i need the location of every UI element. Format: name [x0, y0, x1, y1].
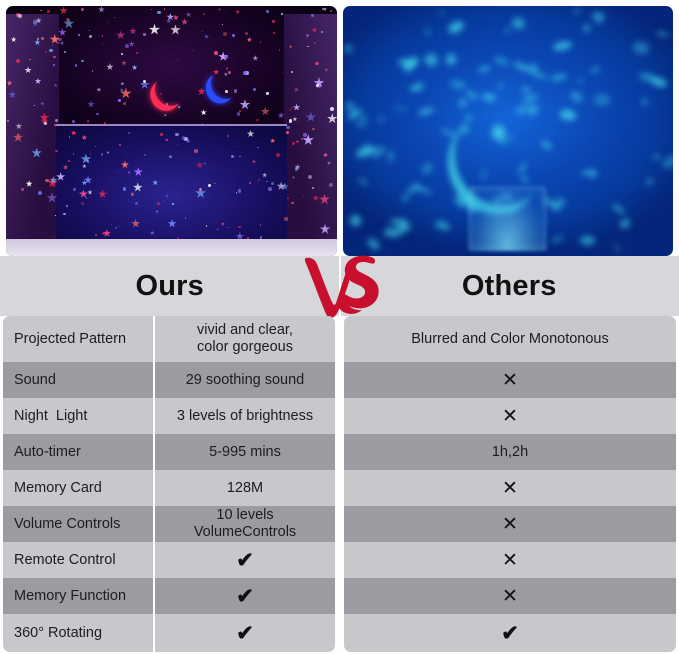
star-glyph — [121, 161, 129, 169]
star-glyph — [165, 138, 169, 142]
star-glyph — [133, 182, 143, 192]
comparison-header-band: Ours Others — [0, 256, 679, 316]
others-blue-projection-photo — [343, 6, 674, 256]
star-glyph — [247, 37, 252, 42]
star-glyph — [71, 130, 77, 136]
light-dot — [92, 70, 94, 72]
light-dot — [119, 226, 120, 227]
blurred-dot — [510, 15, 527, 30]
table-row: ✕ — [344, 506, 676, 542]
star-glyph — [294, 87, 299, 92]
light-dot — [95, 234, 97, 236]
light-dot — [53, 56, 55, 58]
light-dot — [289, 119, 292, 122]
light-dot — [291, 202, 293, 204]
ours-table: Projected Patternvivid and clear,color g… — [3, 316, 335, 652]
light-dot — [311, 14, 314, 17]
light-dot — [114, 17, 115, 18]
light-dot — [55, 119, 58, 122]
star-glyph — [181, 18, 188, 25]
blurred-dot — [366, 237, 381, 252]
light-dot — [166, 195, 168, 197]
table-row: Memory Card128M — [3, 470, 335, 506]
light-dot — [194, 149, 198, 153]
star-glyph — [319, 194, 330, 205]
light-dot — [164, 8, 166, 10]
blurred-dot — [424, 28, 431, 36]
light-dot — [72, 120, 75, 123]
light-dot — [121, 53, 123, 55]
light-dot — [184, 137, 188, 141]
light-dot — [68, 160, 70, 162]
light-dot — [111, 224, 113, 226]
star-glyph — [150, 231, 155, 236]
light-dot — [64, 51, 66, 53]
light-dot — [58, 42, 60, 44]
light-dot — [53, 64, 56, 67]
star-glyph — [131, 219, 140, 228]
star-glyph — [196, 161, 203, 168]
star-glyph — [129, 41, 135, 47]
blurred-dot — [466, 90, 479, 101]
blurred-dot — [618, 217, 631, 230]
table-row: ✕ — [344, 578, 676, 614]
photo-strip — [0, 0, 679, 256]
light-dot — [253, 88, 256, 91]
star-glyph — [312, 195, 319, 202]
light-dot — [286, 126, 289, 129]
light-dot — [273, 32, 275, 34]
star-glyph — [36, 37, 39, 40]
star-glyph — [235, 9, 240, 14]
feature-label: Memory Card — [3, 470, 155, 506]
light-dot — [7, 120, 9, 122]
star-glyph — [7, 80, 13, 86]
blurred-dot — [641, 98, 648, 106]
blurred-dot — [656, 31, 670, 38]
star-glyph — [11, 37, 17, 43]
blurred-dot — [580, 236, 596, 246]
star-glyph — [15, 123, 22, 130]
light-dot — [257, 147, 258, 148]
blurred-dot — [660, 152, 673, 170]
light-dot — [157, 11, 161, 15]
blurred-dot — [645, 177, 656, 187]
light-dot — [58, 38, 61, 41]
light-dot — [164, 200, 166, 202]
light-dot — [177, 144, 178, 145]
light-dot — [286, 131, 289, 134]
light-dot — [271, 182, 275, 186]
light-dot — [203, 13, 206, 16]
light-dot — [164, 146, 165, 147]
star-glyph — [132, 65, 138, 71]
light-dot — [278, 125, 279, 126]
light-dot — [307, 46, 309, 48]
star-glyph — [218, 8, 221, 11]
table-row: Projected Patternvivid and clear,color g… — [3, 316, 335, 362]
star-glyph — [98, 6, 105, 13]
light-dot — [143, 33, 146, 36]
blurred-dot — [362, 114, 367, 120]
crescent-moon-icon — [208, 65, 243, 101]
light-dot — [291, 107, 292, 108]
table-row: 1h,2h — [344, 434, 676, 470]
light-dot — [202, 123, 203, 124]
star-glyph — [164, 114, 167, 117]
light-dot — [123, 102, 126, 105]
ours-header-cell: Ours — [0, 256, 340, 316]
light-dot — [206, 225, 208, 227]
blurred-dot — [446, 19, 465, 35]
star-glyph — [200, 109, 206, 115]
blurred-dot — [378, 116, 385, 123]
star-glyph — [197, 87, 206, 96]
blurred-dot — [459, 99, 466, 108]
light-dot — [239, 110, 241, 112]
star-glyph — [133, 167, 143, 177]
light-dot — [102, 232, 105, 235]
others-table: Blurred and Color Monotonous✕✕1h,2h✕✕✕✕✔ — [344, 316, 676, 652]
light-dot — [314, 42, 316, 44]
light-dot — [107, 22, 108, 23]
table-row: ✕ — [344, 362, 676, 398]
light-dot — [239, 156, 241, 158]
star-glyph — [40, 101, 45, 106]
light-dot — [224, 55, 228, 59]
star-glyph — [311, 27, 317, 33]
cell-value: 128M — [155, 480, 335, 497]
light-dot — [73, 153, 74, 154]
blurred-dot — [652, 152, 661, 160]
light-dot — [128, 132, 130, 134]
blurred-dot — [482, 93, 497, 102]
star-glyph — [296, 140, 300, 144]
light-dot — [33, 20, 37, 24]
light-dot — [38, 191, 42, 195]
star-glyph — [173, 14, 180, 21]
blurred-dot — [578, 77, 584, 83]
star-glyph — [247, 130, 255, 138]
star-glyph — [120, 88, 124, 92]
blurred-dot — [356, 122, 367, 126]
cross-icon: ✕ — [344, 587, 676, 606]
star-glyph — [320, 224, 331, 235]
light-dot — [214, 51, 218, 55]
blurred-dot — [588, 171, 597, 179]
light-dot — [101, 153, 104, 156]
light-dot — [295, 167, 298, 170]
feature-label: Projected Pattern — [3, 316, 155, 362]
light-dot — [125, 152, 126, 153]
light-dot — [81, 8, 84, 11]
ours-starry-projection-photo — [6, 6, 337, 256]
feature-label: Night Light — [3, 398, 155, 434]
star-glyph — [86, 119, 90, 123]
star-glyph — [47, 192, 58, 203]
star-glyph — [292, 117, 297, 122]
star-glyph — [252, 159, 256, 163]
light-dot — [143, 80, 146, 83]
blurred-dot — [523, 93, 539, 103]
cell-value: 29 soothing sound — [155, 372, 335, 389]
light-dot — [245, 32, 248, 35]
light-dot — [81, 60, 83, 62]
light-dot — [287, 198, 288, 199]
blurred-dot — [594, 94, 610, 106]
light-dot — [260, 41, 262, 43]
light-dot — [238, 189, 241, 192]
blurred-dot — [569, 89, 585, 104]
light-dot — [117, 171, 118, 172]
projector-device — [468, 186, 547, 251]
blurred-dot — [590, 67, 601, 74]
star-glyph — [98, 190, 107, 199]
light-dot — [144, 154, 146, 156]
feature-label: Auto-timer — [3, 434, 155, 470]
table-row: Volume Controls10 levelsVolumeControls — [3, 506, 335, 542]
check-icon: ✔ — [155, 586, 335, 607]
light-dot — [258, 179, 260, 181]
light-dot — [276, 153, 280, 157]
light-dot — [104, 122, 106, 124]
blurred-dot — [611, 203, 626, 214]
floor-strip — [6, 239, 337, 257]
light-dot — [238, 146, 239, 147]
light-dot — [54, 124, 56, 126]
check-icon: ✔ — [155, 550, 335, 571]
light-dot — [238, 226, 240, 228]
star-glyph — [82, 164, 86, 168]
light-dot — [303, 133, 307, 137]
star-glyph — [329, 9, 332, 12]
light-dot — [177, 59, 178, 60]
star-glyph — [168, 155, 172, 159]
feature-label: Remote Control — [3, 542, 155, 578]
star-glyph — [252, 55, 258, 61]
cell-value: Blurred and Color Monotonous — [344, 331, 676, 348]
star-glyph — [87, 190, 92, 195]
star-glyph — [59, 6, 68, 15]
blurred-dot — [438, 9, 445, 16]
light-dot — [55, 150, 58, 153]
blurred-dot — [348, 213, 364, 229]
light-dot — [312, 128, 315, 131]
blurred-dot — [632, 41, 650, 55]
cross-icon: ✕ — [344, 479, 676, 498]
star-glyph — [54, 83, 58, 87]
table-row: Blurred and Color Monotonous — [344, 316, 676, 362]
header-center-divider — [339, 256, 341, 316]
star-glyph — [34, 39, 40, 45]
star-glyph — [96, 87, 101, 92]
feature-label: 360° Rotating — [3, 614, 155, 652]
blurred-dot — [503, 27, 511, 33]
light-dot — [292, 142, 295, 145]
light-dot — [266, 10, 269, 13]
light-dot — [119, 144, 121, 146]
star-glyph — [149, 24, 161, 36]
light-dot — [266, 92, 268, 94]
light-dot — [172, 203, 173, 204]
star-glyph — [60, 41, 65, 46]
star-glyph — [262, 172, 267, 177]
light-dot — [89, 30, 90, 31]
star-glyph — [204, 34, 209, 39]
cross-icon: ✕ — [344, 551, 676, 570]
light-dot — [47, 10, 50, 13]
light-dot — [102, 43, 103, 44]
light-dot — [175, 133, 178, 136]
light-dot — [123, 187, 126, 190]
blurred-dot — [478, 65, 491, 72]
table-row: ✕ — [344, 398, 676, 434]
light-dot — [223, 32, 227, 36]
blurred-dot — [358, 177, 368, 185]
light-dot — [232, 34, 235, 37]
star-glyph — [80, 154, 91, 165]
light-dot — [303, 196, 304, 197]
others-title: Others — [462, 270, 557, 303]
star-glyph — [270, 138, 276, 144]
blurred-dot — [402, 195, 410, 202]
star-glyph — [134, 201, 139, 206]
light-dot — [268, 187, 271, 190]
light-dot — [256, 119, 259, 122]
light-dot — [151, 9, 152, 10]
blurred-dot — [387, 150, 395, 162]
light-dot — [55, 215, 56, 216]
blurred-dot — [550, 235, 564, 244]
light-dot — [131, 195, 133, 197]
light-dot — [87, 160, 89, 162]
star-glyph — [116, 31, 125, 40]
light-dot — [227, 227, 229, 229]
cell-value: 5-995 mins — [155, 444, 335, 461]
star-glyph — [8, 91, 16, 99]
star-glyph — [80, 201, 85, 206]
light-dot — [202, 31, 203, 32]
light-dot — [34, 105, 35, 106]
star-glyph — [155, 209, 159, 213]
light-dot — [291, 71, 293, 73]
light-dot — [52, 45, 53, 46]
light-dot — [73, 188, 76, 191]
star-glyph — [327, 113, 337, 124]
blurred-dot — [497, 83, 503, 89]
light-dot — [18, 14, 22, 18]
light-dot — [321, 31, 323, 33]
feature-label: Sound — [3, 362, 155, 398]
blurred-dot — [422, 51, 439, 68]
light-dot — [160, 133, 163, 136]
cell-value: 1h,2h — [344, 444, 676, 461]
star-glyph — [106, 63, 114, 71]
light-dot — [89, 35, 92, 38]
light-dot — [294, 108, 295, 109]
comparison-infographic: Ours Others Projected Patternvivid and c… — [0, 0, 679, 654]
star-glyph — [26, 180, 33, 187]
blurred-dot — [550, 74, 567, 83]
blurred-dot — [553, 40, 574, 52]
cross-icon: ✕ — [344, 407, 676, 426]
light-dot — [192, 50, 193, 51]
star-glyph — [168, 219, 177, 228]
light-dot — [322, 8, 324, 10]
light-dot — [136, 52, 138, 54]
comparison-table: Projected Patternvivid and clear,color g… — [0, 316, 679, 652]
star-glyph — [166, 13, 174, 21]
blurred-dot — [343, 43, 355, 55]
light-dot — [69, 136, 70, 137]
light-dot — [78, 34, 80, 36]
star-glyph — [289, 45, 292, 48]
blurred-dot — [449, 78, 466, 90]
light-dot — [236, 192, 238, 194]
cell-value: vivid and clear,color gorgeous — [155, 322, 335, 356]
star-glyph — [121, 60, 127, 66]
light-dot — [222, 24, 223, 25]
light-dot — [41, 37, 44, 40]
light-dot — [217, 229, 218, 230]
blurred-dot — [559, 109, 576, 122]
feature-label: Volume Controls — [3, 506, 155, 542]
light-dot — [279, 49, 281, 51]
table-row: ✕ — [344, 542, 676, 578]
star-glyph — [292, 176, 295, 179]
star-glyph — [327, 161, 331, 165]
star-glyph — [177, 105, 181, 109]
light-dot — [306, 34, 309, 37]
blurred-dot — [435, 219, 452, 230]
light-dot — [282, 72, 283, 73]
light-dot — [272, 20, 275, 23]
blurred-dot — [614, 243, 621, 254]
light-dot — [153, 101, 156, 104]
table-row: Sound29 soothing sound — [3, 362, 335, 398]
check-icon: ✔ — [155, 623, 335, 644]
star-glyph — [35, 78, 42, 85]
table-row: Remote Control✔ — [3, 542, 335, 578]
cell-value: 10 levelsVolumeControls — [155, 507, 335, 541]
light-dot — [125, 44, 129, 48]
star-glyph — [278, 112, 285, 119]
star-glyph — [31, 148, 42, 159]
star-glyph — [63, 164, 69, 170]
star-glyph — [152, 180, 158, 186]
star-glyph — [186, 12, 192, 18]
light-dot — [315, 62, 318, 65]
light-dot — [44, 122, 47, 125]
star-glyph — [305, 112, 316, 123]
star-glyph — [81, 135, 87, 141]
feature-label: Memory Function — [3, 578, 155, 614]
light-dot — [284, 217, 287, 220]
check-icon: ✔ — [344, 623, 676, 644]
projected-stars-layer — [6, 6, 337, 256]
star-glyph — [24, 66, 31, 73]
light-dot — [301, 138, 304, 141]
light-dot — [118, 99, 121, 102]
ours-title: Ours — [136, 270, 205, 303]
star-glyph — [120, 81, 124, 85]
star-glyph — [87, 100, 95, 108]
light-dot — [330, 107, 334, 111]
blurred-dot — [394, 105, 408, 112]
light-dot — [260, 224, 261, 225]
light-dot — [204, 163, 205, 164]
star-glyph — [56, 172, 65, 181]
